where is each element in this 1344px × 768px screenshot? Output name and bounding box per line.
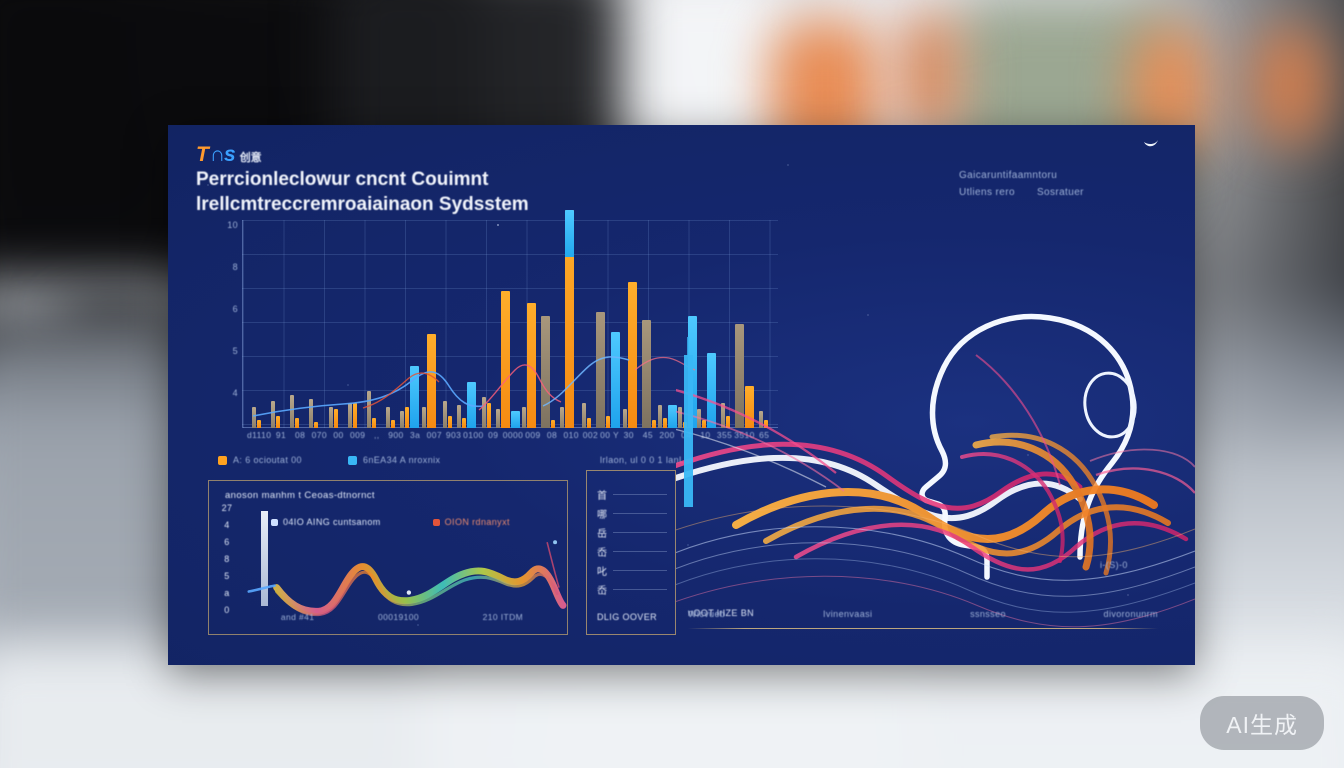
list-item-rule bbox=[613, 494, 667, 495]
bar-chart-bar-group[interactable] bbox=[658, 220, 677, 428]
bar-gray[interactable] bbox=[386, 407, 390, 428]
list-card-footer: DLIG OOVER bbox=[597, 612, 657, 622]
bar-chart-y-tick: 8 bbox=[210, 262, 238, 272]
bar-orange[interactable] bbox=[427, 334, 436, 428]
bar-chart-bar-group[interactable] bbox=[266, 220, 285, 428]
bar-gray[interactable] bbox=[290, 395, 294, 428]
bar-orange[interactable] bbox=[257, 420, 261, 428]
bar-gray[interactable] bbox=[582, 403, 586, 428]
bar-chart-y-tick: 4 bbox=[210, 388, 238, 398]
swoosh-icon[interactable] bbox=[1143, 139, 1159, 149]
bar-gray[interactable] bbox=[252, 407, 256, 428]
bar-chart-x-tick: 002 bbox=[581, 430, 600, 450]
bar-chart-x-tick: 3a bbox=[406, 430, 425, 450]
bar-chart-bar-group[interactable] bbox=[400, 220, 419, 428]
bar-chart-bar-group[interactable] bbox=[438, 220, 457, 428]
bar-gray[interactable] bbox=[400, 411, 404, 428]
bar-gray[interactable] bbox=[560, 407, 564, 428]
bar-chart-bar-group[interactable] bbox=[343, 220, 362, 428]
bar-chart-bar-group[interactable] bbox=[496, 220, 520, 428]
footer-nav-item[interactable]: Wicvueb bbox=[688, 609, 725, 619]
bar-chart-y-tick: 6 bbox=[210, 304, 238, 314]
bar-orange[interactable] bbox=[448, 416, 452, 428]
bar-orange[interactable] bbox=[652, 420, 656, 428]
bar-orange[interactable] bbox=[391, 420, 395, 428]
bar-chart-bar-group[interactable] bbox=[520, 220, 539, 428]
list-card[interactable]: 首哪岳岙叱岙 DLIG OOVER bbox=[586, 470, 676, 635]
footer-nav-item[interactable]: Ivinenvaasi bbox=[823, 609, 872, 619]
bar-orange[interactable] bbox=[276, 416, 280, 428]
bar-orange[interactable] bbox=[314, 422, 318, 428]
list-item-label: 岙 bbox=[597, 544, 607, 559]
bar-orange[interactable] bbox=[372, 418, 376, 428]
bar-orange[interactable] bbox=[405, 407, 409, 428]
head-outline-icon bbox=[676, 185, 1195, 665]
footer-nav-item[interactable]: divoronunrm bbox=[1104, 609, 1158, 619]
bar-gray[interactable] bbox=[329, 407, 333, 428]
list-item-label: 首 bbox=[597, 487, 607, 502]
bar-chart-bar-group[interactable] bbox=[620, 220, 639, 428]
legend-label: A: 6 ocioutat 00 bbox=[233, 455, 302, 465]
list-item[interactable]: 首 bbox=[597, 485, 667, 504]
bar-chart-x-tick: 007 bbox=[425, 430, 444, 450]
bar-chart-x-tick: 08 bbox=[542, 430, 561, 450]
footer-divider bbox=[688, 628, 1158, 630]
wave-chart-x-labels: and #4100019100210 ITDM bbox=[249, 612, 555, 622]
bar-gray[interactable] bbox=[596, 312, 605, 428]
page-title-line-2: lrellcmtreccremroaiainaon Sydsstem bbox=[196, 192, 716, 217]
bar-cyan[interactable] bbox=[611, 332, 620, 428]
bar-orange[interactable] bbox=[527, 303, 536, 428]
list-item-rule bbox=[613, 532, 667, 533]
bar-chart-x-tick: 91 bbox=[271, 430, 290, 450]
hero-badge: i-(S)-0 bbox=[1100, 560, 1128, 570]
list-item[interactable]: 岙 bbox=[597, 580, 667, 599]
logo-subtext: 创意 bbox=[240, 149, 262, 165]
bar-chart-x-tick: 009 bbox=[523, 430, 542, 450]
bar-chart-x-tick: 009 bbox=[348, 430, 367, 450]
footer-nav[interactable]: WicvuebIvinenvaasissnsseodivoronunrm bbox=[688, 609, 1158, 630]
list-item[interactable]: 岙 bbox=[597, 542, 667, 561]
bar-gray[interactable] bbox=[623, 409, 627, 428]
bar-chart-x-tick: 0100 bbox=[463, 430, 484, 450]
wave-chart-x-tick: 210 ITDM bbox=[483, 612, 524, 622]
bar-chart-bar-group[interactable] bbox=[247, 220, 266, 428]
logo-mark-t: T bbox=[196, 143, 208, 167]
bar-orange[interactable] bbox=[501, 291, 510, 428]
list-item-label: 岳 bbox=[597, 525, 607, 540]
page-title-line-1: Perrcionleclowur cncnt Couimnt bbox=[196, 167, 716, 192]
bar-chart-x-tick: 900 bbox=[386, 430, 405, 450]
bar-chart-bar-group[interactable] bbox=[639, 220, 658, 428]
bar-gray[interactable] bbox=[443, 401, 447, 428]
bar-chart-bar-group[interactable] bbox=[596, 220, 620, 428]
list-item-rule bbox=[613, 551, 667, 552]
bar-chart-bar-group[interactable] bbox=[324, 220, 343, 428]
brand-logo[interactable]: T ∩s 创意 bbox=[196, 143, 262, 167]
ai-generated-watermark: AI生成 bbox=[1200, 696, 1324, 750]
bar-gray[interactable] bbox=[642, 320, 651, 428]
bar-gray[interactable] bbox=[482, 397, 486, 428]
bar-chart-x-tick: 200 bbox=[658, 430, 677, 450]
bar-chart-y-tick: 10 bbox=[210, 220, 238, 230]
list-item[interactable]: 哪 bbox=[597, 504, 667, 523]
bar-cyan[interactable] bbox=[467, 382, 476, 428]
bar-orange[interactable] bbox=[551, 420, 555, 428]
bar-gray[interactable] bbox=[367, 391, 371, 428]
bar-gray[interactable] bbox=[271, 401, 275, 428]
bar-chart-x-tick: 010 bbox=[562, 430, 581, 450]
bar-chart-x-tick: 903 bbox=[444, 430, 463, 450]
background-orange-chair-2 bbox=[900, 10, 960, 140]
list-item-rule bbox=[613, 570, 667, 571]
bar-gray[interactable] bbox=[496, 409, 500, 428]
bar-chart-y-axis: 108654 bbox=[208, 202, 238, 428]
bar-chart-bar-group[interactable] bbox=[539, 220, 558, 428]
bar-orange[interactable] bbox=[462, 418, 466, 428]
bar-cyan[interactable] bbox=[511, 411, 520, 428]
bar-chart-bar-group[interactable] bbox=[477, 220, 496, 428]
legend-item[interactable]: A: 6 ocioutat 00 bbox=[218, 455, 302, 465]
bar-orange[interactable] bbox=[663, 418, 667, 428]
list-item-label: 哪 bbox=[597, 506, 607, 521]
bar-chart-x-tick: 09 bbox=[484, 430, 503, 450]
bar-chart-bar-group[interactable] bbox=[457, 220, 476, 428]
bar-orange[interactable] bbox=[334, 409, 338, 428]
bar-chart-legend: A: 6 ocioutat 006nEA34 A nroxnix bbox=[218, 455, 440, 465]
list-item-rule bbox=[613, 513, 667, 514]
legend-item[interactable]: 6nEA34 A nroxnix bbox=[348, 455, 440, 465]
bar-chart-x-tick: 0000 bbox=[503, 430, 524, 450]
logo-mark-ns: ∩s bbox=[210, 143, 235, 167]
bar-chart-bar-group[interactable] bbox=[362, 220, 381, 428]
bar-chart-x-tick: 45 bbox=[638, 430, 657, 450]
bar-chart-x-tick: 08 bbox=[291, 430, 310, 450]
bar-cyan-segment bbox=[565, 210, 574, 258]
list-item-rule bbox=[613, 589, 667, 590]
legend-label: 6nEA34 A nroxnix bbox=[363, 455, 440, 465]
bar-orange[interactable] bbox=[295, 418, 299, 428]
list-item[interactable]: 叱 bbox=[597, 561, 667, 580]
footer-nav-item[interactable]: ssnsseo bbox=[970, 609, 1006, 619]
wave-chart-x-tick: and #41 bbox=[281, 612, 315, 622]
bar-gray[interactable] bbox=[309, 399, 313, 428]
list-item-label: 叱 bbox=[597, 563, 607, 578]
bar-gray[interactable] bbox=[457, 405, 461, 428]
bar-chart-bar-group[interactable] bbox=[285, 220, 304, 428]
bar-chart-bar-group[interactable] bbox=[577, 220, 596, 428]
header-meta-line-1: Gaicaruntifaamntoru bbox=[959, 167, 1169, 184]
bar-gray[interactable] bbox=[422, 407, 426, 428]
wave-chart-x-tick: 00019100 bbox=[378, 612, 419, 622]
page-title: Perrcionleclowur cncnt Couimnt lrellcmtr… bbox=[196, 167, 716, 217]
legend-swatch bbox=[218, 456, 227, 465]
bar-chart-x-tick: ,, bbox=[367, 430, 386, 450]
bar-chart-bar-group[interactable] bbox=[304, 220, 323, 428]
bar-chart-x-tick: 30 bbox=[619, 430, 638, 450]
bar-orange[interactable] bbox=[587, 418, 591, 428]
bar-gray[interactable] bbox=[348, 403, 352, 428]
bar-chart-x-tick: d1110 bbox=[247, 430, 271, 450]
bar-chart-bar-group[interactable] bbox=[381, 220, 400, 428]
hero-graphic: i-(S)-0 bbox=[676, 185, 1195, 665]
dashboard-panel: T ∩s 创意 Perrcionleclowur cncnt Couimnt l… bbox=[168, 125, 1195, 665]
bar-chart-x-tick: 00 bbox=[329, 430, 348, 450]
list-item-label: 岙 bbox=[597, 582, 607, 597]
bar-orange[interactable] bbox=[628, 282, 637, 428]
bar-chart-x-tick: 00 Y bbox=[600, 430, 619, 450]
wave-chart-panel[interactable]: anoson manhm t Ceoas-dtnornct 274685a0 0… bbox=[208, 480, 568, 635]
bar-gray[interactable] bbox=[541, 316, 550, 428]
bar-orange[interactable] bbox=[606, 416, 610, 428]
list-item[interactable]: 岳 bbox=[597, 523, 667, 542]
bar-chart-bar-group[interactable] bbox=[419, 220, 438, 428]
footer-nav-items[interactable]: WicvuebIvinenvaasissnsseodivoronunrm bbox=[688, 609, 1158, 619]
legend-swatch bbox=[348, 456, 357, 465]
list-card-rows: 首哪岳岙叱岙 bbox=[597, 485, 667, 599]
bar-gray[interactable] bbox=[522, 407, 526, 428]
bar-cyan[interactable] bbox=[410, 366, 419, 428]
bar-chart-side-note: lrlaon, ul 0 0 1 lanL bbox=[600, 455, 684, 465]
bar-orange[interactable] bbox=[565, 210, 574, 428]
bar-orange[interactable] bbox=[487, 403, 491, 428]
bar-chart-bar-group[interactable] bbox=[558, 220, 577, 428]
background-orange-chair-4 bbox=[1250, 25, 1330, 145]
bar-chart-y-tick: 5 bbox=[210, 346, 238, 356]
bar-gray[interactable] bbox=[658, 405, 662, 428]
bar-orange[interactable] bbox=[353, 403, 357, 428]
bar-chart-x-tick: 070 bbox=[310, 430, 329, 450]
